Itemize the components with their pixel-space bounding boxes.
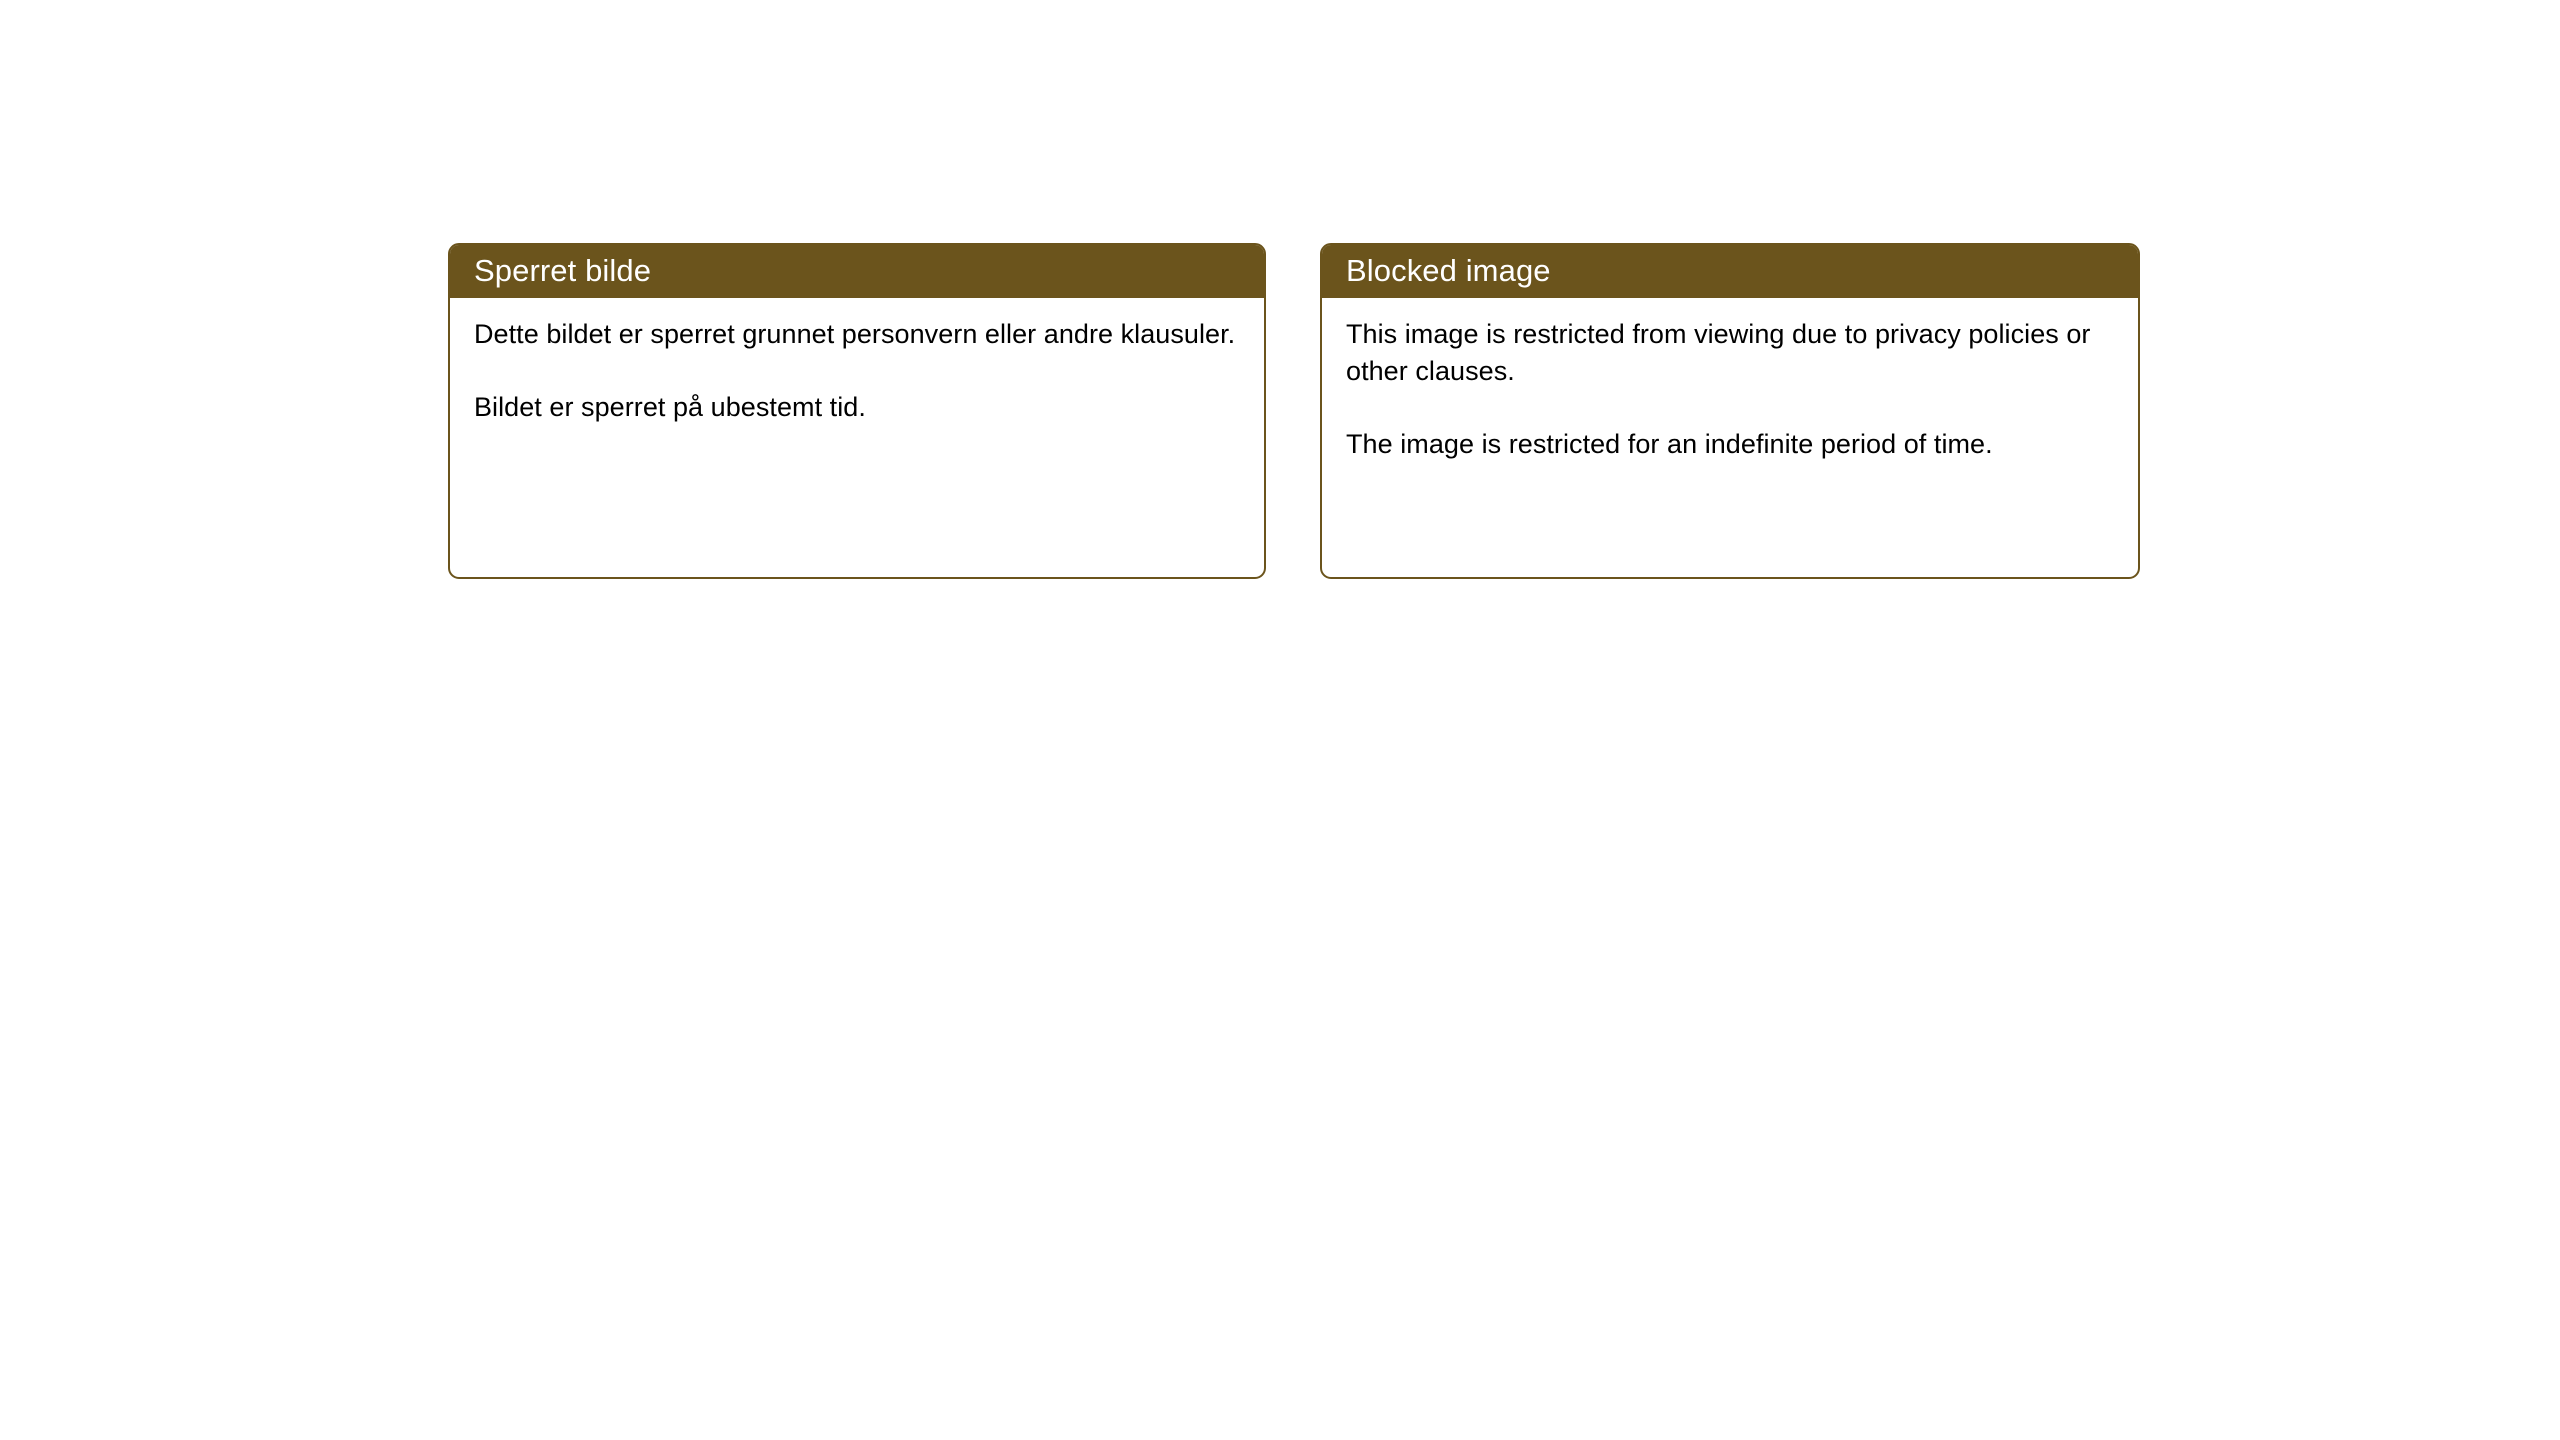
notice-card-header-no: Sperret bilde (448, 243, 1266, 298)
notice-card-body-en: This image is restricted from viewing du… (1322, 298, 2138, 463)
page-canvas: Sperret bilde Dette bildet er sperret gr… (0, 0, 2560, 1440)
notice-paragraph-primary-no: Dette bildet er sperret grunnet personve… (474, 316, 1242, 353)
notice-card-title-no: Sperret bilde (448, 254, 651, 288)
paragraph-spacer-no (474, 353, 1242, 389)
notice-paragraph-secondary-no: Bildet er sperret på ubestemt tid. (474, 389, 1242, 426)
notice-paragraph-secondary-en: The image is restricted for an indefinit… (1346, 426, 2116, 463)
notice-card-title-en: Blocked image (1320, 254, 1551, 288)
blocked-image-notice-card-no: Sperret bilde Dette bildet er sperret gr… (448, 243, 1266, 579)
notice-card-header-en: Blocked image (1320, 243, 2140, 298)
blocked-image-notice-card-en: Blocked image This image is restricted f… (1320, 243, 2140, 579)
notice-card-body-no: Dette bildet er sperret grunnet personve… (450, 298, 1264, 426)
paragraph-spacer-en (1346, 390, 2116, 426)
notice-paragraph-primary-en: This image is restricted from viewing du… (1346, 316, 2116, 390)
